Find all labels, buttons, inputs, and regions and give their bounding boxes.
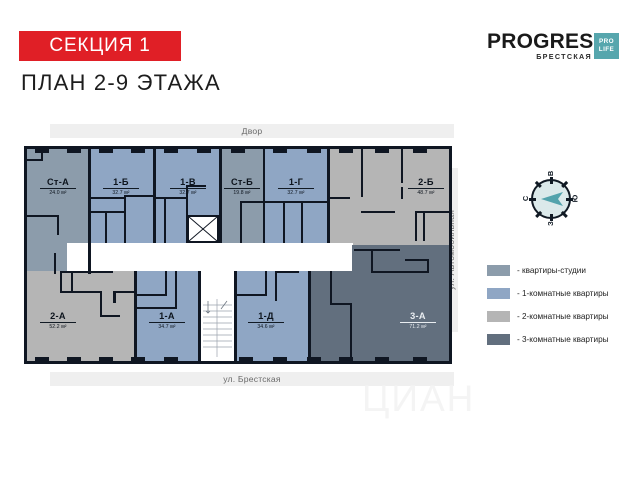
wall-horizontal <box>237 294 267 296</box>
pilaster <box>99 149 113 153</box>
wall-vertical <box>60 271 62 291</box>
compass-needle-icon <box>540 192 564 206</box>
wall-horizontal <box>301 201 327 203</box>
pilaster <box>131 149 145 153</box>
badge-line-2: LIFE <box>599 46 614 54</box>
legend-label: - 2-комнатные квартиры <box>517 312 609 321</box>
wall-vertical <box>423 211 425 241</box>
wall-vertical <box>134 271 137 361</box>
apartment-area-2-b[interactable] <box>330 149 449 243</box>
apartment-area-1-a[interactable] <box>137 271 198 361</box>
wall-vertical <box>124 197 126 243</box>
wall-vertical <box>219 149 222 243</box>
wall-vertical <box>234 271 237 361</box>
wall-horizontal <box>354 249 400 251</box>
floor-plan-page: СЕКЦИЯ 1 ПЛАН 2-9 ЭТАЖА PROGRESS БРЕСТСК… <box>0 0 640 480</box>
compass-tick <box>550 177 553 184</box>
wall-vertical <box>265 271 267 296</box>
legend-swatch <box>487 288 510 299</box>
apartment-area-st-b[interactable] <box>222 149 263 243</box>
pilaster <box>231 149 245 153</box>
logo-wordmark: PROGRESS <box>487 31 608 53</box>
wall-vertical <box>350 303 352 361</box>
elevator-icon <box>189 217 217 241</box>
compass-label-east: В <box>546 171 555 176</box>
wall-horizontal <box>137 307 177 309</box>
wall-vertical <box>275 271 277 301</box>
wall-horizontal <box>156 197 186 199</box>
watermark: ЦИАН <box>362 378 475 420</box>
wall-vertical <box>240 201 242 243</box>
legend-item-three-room: - 3-комнатные квартиры <box>487 328 637 351</box>
badge-line-1: PRO <box>599 38 614 46</box>
wall-vertical <box>283 201 285 243</box>
compass-rose: С В Ю З <box>524 172 578 226</box>
wall-horizontal <box>330 303 352 305</box>
wall-horizontal <box>405 259 429 261</box>
pilaster <box>375 149 389 153</box>
apartment-area-1-d[interactable] <box>237 271 308 361</box>
pilaster <box>131 357 145 361</box>
wall-horizontal <box>240 201 263 203</box>
building-outline: Ст-А 24.0 м² 1-Б 32.7 м² 1-В 32.7 м² Ст-… <box>24 146 452 364</box>
wall-horizontal <box>100 315 120 317</box>
wall-horizontal <box>91 197 124 199</box>
apartment-area-1-g[interactable] <box>265 149 327 243</box>
pilaster <box>197 149 211 153</box>
wall-horizontal <box>60 271 113 273</box>
pilaster <box>339 149 353 153</box>
legend-swatch <box>487 265 510 276</box>
wall-vertical <box>153 149 156 243</box>
legend-label: - 1-комнатные квартиры <box>517 289 609 298</box>
pilaster <box>99 357 113 361</box>
corridor <box>67 243 353 271</box>
wall-vertical <box>301 201 303 243</box>
legend-item-studio: - квартиры-студии <box>487 259 637 282</box>
compass-label-south: Ю <box>570 195 579 203</box>
pilaster <box>239 357 253 361</box>
pilaster <box>164 149 178 153</box>
pilaster <box>35 149 49 153</box>
floor-plan: Двор ул. Брестская ул. Автомобильная <box>20 124 464 386</box>
wall-horizontal <box>91 211 124 213</box>
wall-horizontal <box>124 195 153 197</box>
wall-vertical <box>198 271 201 361</box>
pilaster <box>273 149 287 153</box>
pro-life-badge: PRO LIFE <box>594 33 619 59</box>
wall-horizontal <box>137 294 167 296</box>
wall-vertical <box>165 271 167 296</box>
legend-swatch <box>487 334 510 345</box>
wall-horizontal <box>417 211 449 213</box>
wall-vertical <box>330 271 332 305</box>
wall-vertical <box>401 187 403 199</box>
stairs-icon <box>203 299 232 357</box>
pilaster <box>273 357 287 361</box>
wall-vertical <box>308 271 311 361</box>
apartment-canvas: Ст-А 24.0 м² 1-Б 32.7 м² 1-В 32.7 м² Ст-… <box>27 149 449 361</box>
pilaster <box>35 357 49 361</box>
wall-horizontal <box>361 211 395 213</box>
wall-horizontal <box>275 271 299 273</box>
pilaster <box>413 149 427 153</box>
wall-vertical <box>164 197 166 243</box>
wall-vertical <box>175 271 177 309</box>
pilaster <box>67 357 81 361</box>
wall-vertical <box>54 253 56 274</box>
wall-vertical <box>327 149 330 243</box>
wall-vertical <box>71 271 73 291</box>
legend-swatch <box>487 311 510 322</box>
wall-vertical <box>401 149 403 183</box>
legend-label: - квартиры-студии <box>517 266 586 275</box>
compass-label-north: С <box>521 196 530 201</box>
wall-vertical <box>263 149 265 243</box>
legend-label: - 3-комнатные квартиры <box>517 335 609 344</box>
compass-tick <box>561 211 568 218</box>
wall-vertical <box>100 291 102 317</box>
wall-horizontal <box>113 291 134 293</box>
wall-horizontal <box>186 185 206 187</box>
wall-horizontal <box>60 291 102 293</box>
wall-vertical <box>105 211 107 243</box>
wall-horizontal <box>371 271 429 273</box>
pilaster <box>375 357 389 361</box>
pilaster <box>413 357 427 361</box>
page-title: ПЛАН 2-9 ЭТАЖА <box>21 70 221 96</box>
section-badge: СЕКЦИЯ 1 <box>19 31 181 61</box>
legend-item-two-room: - 2-комнатные квартиры <box>487 305 637 328</box>
wall-vertical <box>113 293 116 303</box>
pilaster <box>307 357 321 361</box>
wall-vertical <box>415 211 417 241</box>
wall-horizontal <box>27 215 59 217</box>
brand-logo: PROGRESS БРЕСТСКАЯ PRO LIFE <box>487 31 619 65</box>
wall-vertical <box>371 249 373 271</box>
wall-vertical <box>427 259 429 273</box>
wall-vertical <box>57 215 59 235</box>
pilaster <box>339 357 353 361</box>
legend-item-one-room: - 1-комнатные квартиры <box>487 282 637 305</box>
logo-subtitle: БРЕСТСКАЯ <box>536 52 592 61</box>
pilaster <box>164 357 178 361</box>
pilaster <box>307 149 321 153</box>
street-label-top: Двор <box>50 124 454 138</box>
legend: - квартиры-студии - 1-комнатные квартиры… <box>487 259 637 351</box>
pilaster <box>67 149 81 153</box>
wall-horizontal <box>330 197 350 199</box>
compass-label-west: З <box>546 221 555 226</box>
wall-vertical <box>361 149 363 197</box>
